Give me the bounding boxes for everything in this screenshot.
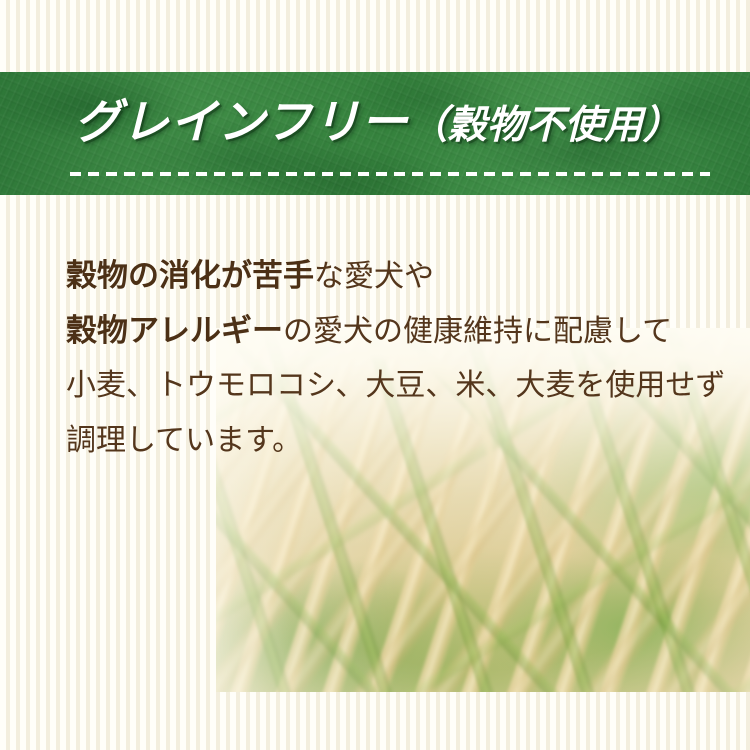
banner-title: グレインフリー（穀物不使用） bbox=[74, 98, 682, 145]
promo-banner-page: グレインフリー（穀物不使用） 穀物の消化が苦手な愛犬や 穀物アレルギーの愛犬の健… bbox=[0, 0, 750, 750]
copy-line-3: 小麦、トウモロコシ、大豆、米、大麦を使用せず bbox=[66, 358, 726, 413]
copy-line-2-rest: の愛犬の健康維持に配慮して bbox=[283, 315, 672, 348]
copy-line-2-strong: 穀物アレルギー bbox=[66, 313, 283, 348]
banner-title-sub: （穀物不使用） bbox=[409, 104, 682, 147]
copy-line-4: 調理しています。 bbox=[66, 413, 726, 468]
copy-line-3-rest: 小麦、トウモロコシ、大豆、米、大麦を使用せず bbox=[66, 369, 725, 402]
copy-line-2: 穀物アレルギーの愛犬の健康維持に配慮して bbox=[66, 303, 726, 358]
copy-line-1: 穀物の消化が苦手な愛犬や bbox=[66, 248, 726, 303]
copy-line-4-rest: 調理しています。 bbox=[66, 424, 302, 457]
body-copy: 穀物の消化が苦手な愛犬や 穀物アレルギーの愛犬の健康維持に配慮して 小麦、トウモ… bbox=[66, 248, 726, 468]
header-green-banner: グレインフリー（穀物不使用） bbox=[0, 72, 750, 195]
banner-title-main: グレインフリー bbox=[74, 95, 409, 148]
banner-dashed-divider bbox=[70, 172, 710, 176]
copy-line-1-strong: 穀物の消化が苦手 bbox=[66, 258, 314, 293]
copy-line-1-rest: な愛犬や bbox=[314, 260, 434, 293]
